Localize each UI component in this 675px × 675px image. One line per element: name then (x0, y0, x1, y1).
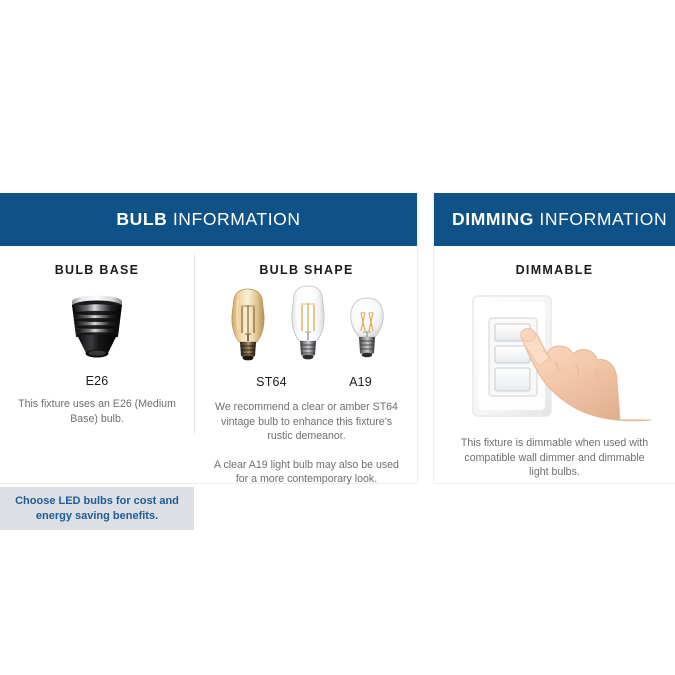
clear-a19-bulb-image (344, 295, 390, 371)
bulb-base-heading: BULB BASE (0, 263, 194, 277)
hand-pressing-wall-dimmer-image (455, 288, 655, 428)
bulb-shape-label-st64: ST64 (224, 375, 320, 389)
clear-a19-bulb-cell (344, 295, 390, 371)
dimming-description: This fixture is dimmable when used with … (460, 436, 650, 480)
bulb-information-title: BULB INFORMATION (116, 209, 300, 230)
bulb-shape-labels: ST64 A19 (195, 375, 418, 389)
bulb-header-light: INFORMATION (167, 209, 300, 229)
bulb-shape-label-a19: A19 (332, 375, 390, 389)
clear-st64-bulb-cell (284, 283, 332, 371)
bulb-shape-description-2: A clear A19 light bulb may also be used … (214, 458, 400, 487)
e26-socket-image (60, 291, 134, 365)
led-callout-text: Choose LED bulbs for cost and energy sav… (13, 494, 181, 523)
dimmable-heading: DIMMABLE (434, 263, 675, 277)
dimming-header-light: INFORMATION (534, 209, 667, 229)
bulb-base-description: This fixture uses an E26 (Medium Base) b… (17, 397, 177, 426)
amber-st64-bulb-image (224, 287, 272, 371)
dimming-panel-body: DIMMABLE (434, 246, 675, 480)
bulb-shape-column: BULB SHAPE (195, 246, 418, 487)
bulb-shape-heading: BULB SHAPE (195, 263, 418, 277)
dimming-information-header-bar: DIMMING INFORMATION (434, 193, 675, 246)
product-spec-infographic: BULB INFORMATION BULB BASE (0, 0, 675, 675)
bulb-shape-images (195, 285, 418, 371)
bulb-shape-description-1: We recommend a clear or amber ST64 vinta… (214, 400, 400, 444)
bulb-base-column: BULB BASE (0, 246, 194, 426)
bulb-panel-body: BULB BASE (0, 246, 417, 484)
dimming-information-title: DIMMING INFORMATION (452, 209, 667, 230)
bulb-information-header-bar: BULB INFORMATION (0, 193, 417, 246)
led-callout-box: Choose LED bulbs for cost and energy sav… (0, 487, 194, 530)
dimming-information-panel: DIMMING INFORMATION DIMMABLE (433, 193, 675, 484)
amber-st64-bulb-cell (224, 287, 272, 371)
clear-st64-bulb-image (284, 283, 332, 371)
bulb-base-name: E26 (0, 374, 194, 388)
bulb-information-panel: BULB INFORMATION BULB BASE (0, 193, 418, 484)
bulb-header-strong: BULB (116, 209, 167, 229)
dimming-header-strong: DIMMING (452, 209, 534, 229)
